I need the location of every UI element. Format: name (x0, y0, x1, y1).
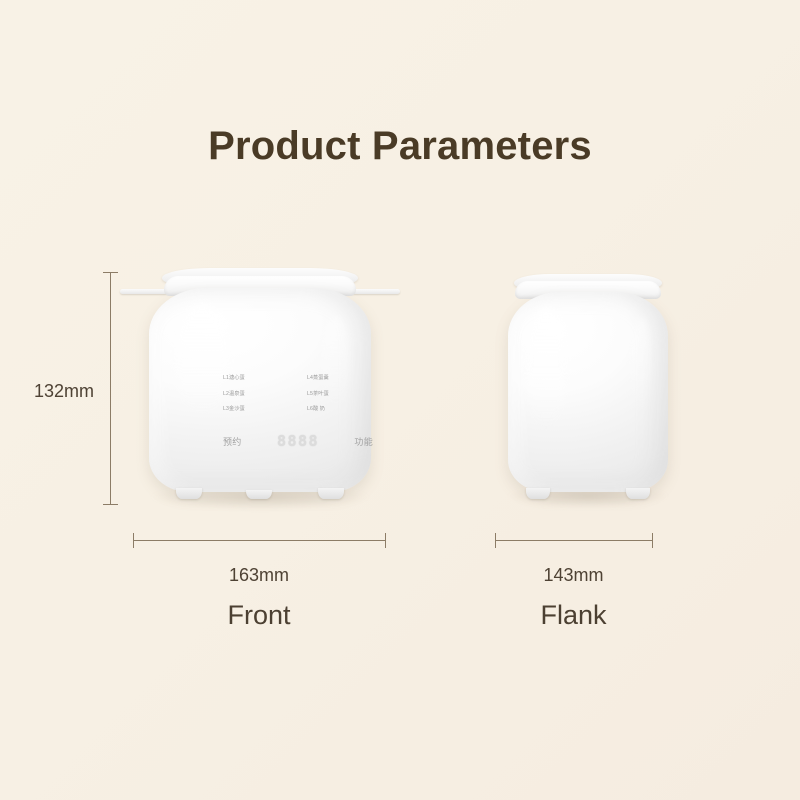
flank-width-dimension-cap-right (652, 533, 653, 548)
mode-item-l1: L1溏心蛋 (223, 376, 298, 381)
front-view-caption: Front (133, 600, 385, 631)
front-foot-right (318, 488, 344, 499)
reserve-button[interactable]: 预约 (223, 435, 242, 448)
flank-body-highlight (526, 308, 566, 428)
front-width-dimension-label: 163mm (133, 565, 385, 586)
mode-column-right: L4蒸蛋羹 L5茶叶蛋 L6酸 奶 (298, 376, 373, 423)
flank-body-highlight-secondary (632, 318, 652, 414)
product-flank-view (498, 270, 678, 508)
page-title: Product Parameters (0, 124, 800, 169)
function-button[interactable]: 功能 (354, 435, 373, 448)
flank-body (508, 292, 668, 492)
flank-view-caption: Flank (495, 600, 652, 631)
mode-item-l5: L5茶叶蛋 (298, 392, 373, 397)
led-display: 8888 (277, 432, 319, 450)
front-foot-left (176, 488, 202, 499)
control-panel[interactable]: L1溏心蛋 L2温泉蛋 L3金沙蛋 L4蒸蛋羹 L5茶叶蛋 L6酸 奶 预约 8… (223, 376, 373, 456)
mode-label-grid: L1溏心蛋 L2温泉蛋 L3金沙蛋 L4蒸蛋羹 L5茶叶蛋 L6酸 奶 (223, 376, 373, 423)
product-parameters-stage: Product Parameters 132mm L1溏心蛋 L2温泉蛋 (0, 0, 800, 800)
front-body: L1溏心蛋 L2温泉蛋 L3金沙蛋 L4蒸蛋羹 L5茶叶蛋 L6酸 奶 预约 8… (149, 288, 371, 492)
control-panel-row: 预约 8888 功能 (223, 432, 373, 450)
front-width-dimension-cap-left (133, 533, 134, 548)
height-dimension-line (110, 272, 111, 504)
front-width-dimension-cap-right (385, 533, 386, 548)
front-body-highlight (175, 304, 229, 414)
flank-foot-left (526, 488, 550, 499)
mode-item-l4: L4蒸蛋羹 (298, 376, 373, 381)
height-dimension-cap-top (103, 272, 118, 273)
height-dimension-label: 132mm (26, 381, 102, 402)
mode-item-l6: L6酸 奶 (298, 407, 373, 412)
front-width-dimension-line (133, 540, 385, 541)
flank-width-dimension-line (495, 540, 652, 541)
product-front-view: L1溏心蛋 L2温泉蛋 L3金沙蛋 L4蒸蛋羹 L5茶叶蛋 L6酸 奶 预约 8… (120, 262, 400, 508)
height-dimension-cap-bottom (103, 504, 118, 505)
mode-item-l3: L3金沙蛋 (223, 407, 298, 412)
mode-item-l2: L2温泉蛋 (223, 392, 298, 397)
front-foot-center (246, 490, 272, 499)
mode-column-left: L1溏心蛋 L2温泉蛋 L3金沙蛋 (223, 376, 298, 423)
flank-width-dimension-label: 143mm (495, 565, 652, 586)
flank-foot-right (626, 488, 650, 499)
flank-width-dimension-cap-left (495, 533, 496, 548)
